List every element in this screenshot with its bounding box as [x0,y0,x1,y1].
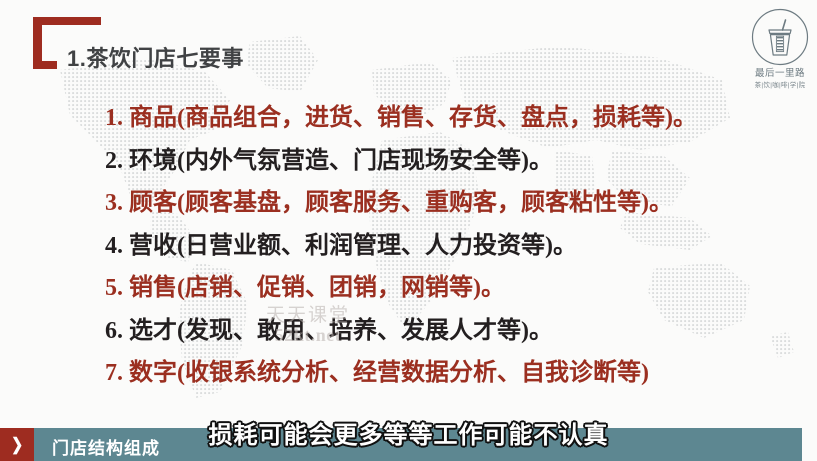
list-item-label: 选才(发现、敢用、培养、发展人才等)。 [129,310,553,345]
list-item: 7. 数字(收银系统分析、经营数据分析、自我诊断等) [97,352,737,395]
page-title: 1.茶饮门店七要事 [67,41,244,73]
bracket-bottom-bar [33,61,57,69]
list-item: 3. 顾客(顾客基盘，顾客服务、重购客，顾客粘性等)。 [97,182,737,225]
list-item-number: 4. [97,233,123,260]
list-item-label: 商品(商品组合，进货、销售、存货、盘点，损耗等)。 [129,97,697,132]
list-item: 1. 商品(商品组合，进货、销售、存货、盘点，损耗等)。 [97,97,737,140]
logo-subtitle: 茶|饮|咖|啡|学|院 [748,79,812,89]
slide-canvas: 1.茶饮门店七要事 最后一里路 茶|饮|咖|啡|学|院 1. [0,0,817,461]
list-item-number: 1. [97,105,123,132]
list-item-number: 5. [97,275,123,302]
list-item: 2. 环境(内外气氛营造、门店现场安全等)。 [97,140,737,183]
list-item-label: 数字(收银系统分析、经营数据分析、自我诊断等) [129,352,649,387]
list-item-label: 顾客(顾客基盘，顾客服务、重购客，顾客粘性等)。 [129,182,673,217]
bracket-top-bar [33,17,101,25]
list-item-label: 环境(内外气氛营造、门店现场安全等)。 [129,140,553,175]
seven-essentials-list: 1. 商品(商品组合，进货、销售、存货、盘点，损耗等)。 2. 环境(内外气氛营… [97,97,737,395]
brand-logo: 最后一里路 茶|饮|咖|啡|学|院 [748,8,812,100]
subtitle-caption: 损耗可能会更多等等工作可能不认真 [0,415,817,450]
list-item: 5. 销售(店销、促销、团销，网销等)。 [97,267,737,310]
list-item-number: 3. [97,190,123,217]
logo-name: 最后一里路 [748,65,812,79]
list-item-label: 销售(店销、促销、团销，网销等)。 [129,267,505,302]
drink-cup-icon [751,8,809,66]
list-item-number: 7. [97,360,123,387]
list-item-label: 营收(日营业额、利润管理、人力投资等)。 [129,225,577,260]
list-item-number: 6. [97,318,123,345]
list-item-number: 2. [97,148,123,175]
list-item: 4. 营收(日营业额、利润管理、人力投资等)。 [97,225,737,268]
list-item: 6. 选才(发现、敢用、培养、发展人才等)。 [97,310,737,353]
